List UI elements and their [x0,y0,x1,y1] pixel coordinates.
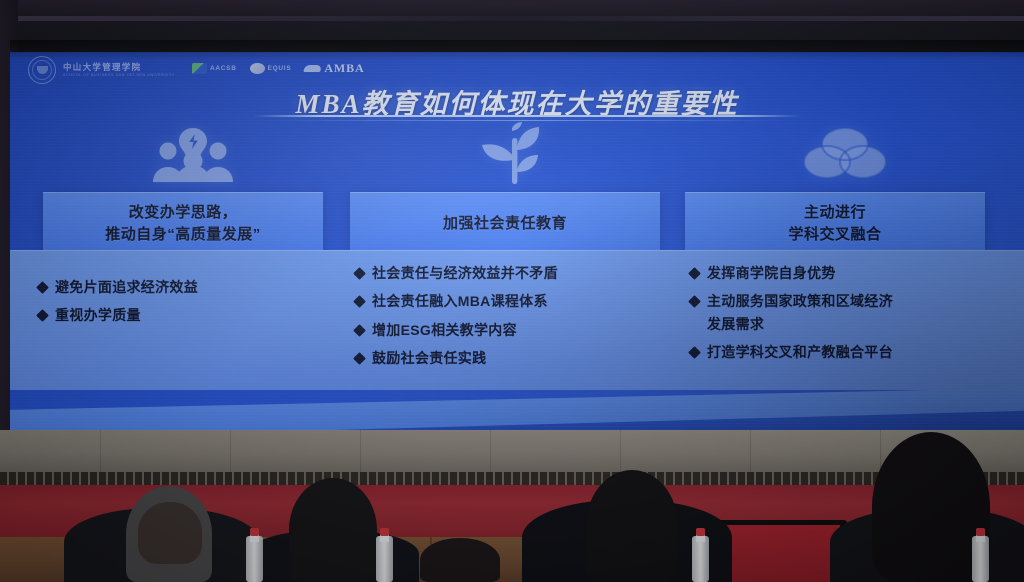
venn-circles-icon [785,120,905,186]
bullet-item: 重视办学质量 [38,306,338,325]
column-icons-row [10,120,1024,186]
school-name-cn: 中山大学管理学院 [63,62,175,73]
title-underline [253,115,801,117]
column-heading-1-line-1: 改变办学思路， [129,202,238,224]
water-bottle [972,522,989,582]
audience-head [78,452,243,582]
diamond-bullet-icon [688,267,701,280]
bullet-text: 打造学科交叉和产教融合平台 [707,343,893,362]
column-heading-1: 改变办学思路， 推动自身“高质量发展” [43,192,323,254]
bullet-column-3: 发挥商学院自身优势 主动服务国家政策和区域经济 发展需求 打造学科交叉和产教融合… [690,264,1010,371]
column-heading-2: 加强社会责任教育 [350,192,660,254]
bullet-column-2: 社会责任与经济效益并不矛盾 社会责任融入MBA课程体系 增加ESG相关教学内容 … [355,264,675,377]
bullet-text: 主动服务国家政策和区域经济 [707,292,893,311]
bullet-text: 避免片面追求经济效益 [55,278,198,297]
diamond-bullet-icon [353,267,366,280]
bullet-column-1: 避免片面追求经济效益 重视办学质量 [38,278,338,335]
bullet-item: 打造学科交叉和产教融合平台 [690,343,1010,362]
sprout-plant-icon [455,120,575,186]
bullet-item: 社会责任与经济效益并不矛盾 [355,264,675,283]
bullet-item: 鼓励社会责任实践 [355,349,675,368]
hall-upper-wall [0,0,1024,58]
audience-head [410,538,510,582]
column-heading-3-line-2: 学科交叉融合 [788,224,881,246]
diamond-bullet-icon [36,281,49,294]
bullet-item: 社会责任融入MBA课程体系 [355,292,675,311]
diamond-bullet-icon [353,295,366,308]
diamond-bullet-icon [353,324,366,337]
audience-head [840,432,1020,582]
school-logo: 中山大学管理学院 SCHOOL OF BUSINESS SUN YAT-SEN … [28,56,175,84]
aacsb-label: AACSB [210,65,237,72]
diamond-bullet-icon [688,346,701,359]
photo-scene: 中山大学管理学院 SCHOOL OF BUSINESS SUN YAT-SEN … [0,0,1024,582]
bullet-text: 增加ESG相关教学内容 [372,321,517,340]
water-bottle [692,522,709,582]
diamond-bullet-icon [36,309,49,322]
amba-label: AMBA [324,61,364,76]
water-bottle [246,522,263,582]
equis-logo-icon: EQUIS [250,63,292,74]
bullet-item: 发挥商学院自身优势 [690,264,1010,283]
water-bottle [376,522,393,582]
bullet-item: 主动服务国家政策和区域经济 [690,292,1010,311]
diamond-bullet-icon [353,352,366,365]
aacsb-logo-icon: AACSB [192,63,237,74]
bullet-text: 发展需求 [707,315,764,334]
bullet-text: 发挥商学院自身优势 [707,264,836,283]
column-heading-3-line-1: 主动进行 [804,202,866,224]
bullet-item: 避免片面追求经济效益 [38,278,338,297]
diamond-bullet-icon [688,295,701,308]
equis-label: EQUIS [268,65,292,72]
bullet-text: 鼓励社会责任实践 [372,349,486,368]
projection-slide: 中山大学管理学院 SCHOOL OF BUSINESS SUN YAT-SEN … [10,52,1024,430]
column-headings-row: 改变办学思路， 推动自身“高质量发展” 加强社会责任教育 主动进行 学科交叉融合 [10,192,1024,254]
accreditation-logos: AACSB EQUIS AMBA [192,61,365,76]
column-heading-3: 主动进行 学科交叉融合 [685,192,985,254]
column-heading-2-line-1: 加强社会责任教育 [443,213,567,235]
bullet-text: 社会责任与经济效益并不矛盾 [372,264,558,283]
audience-head [538,436,713,582]
bullet-item-continuation: 发展需求 [690,315,1010,334]
school-name-en: SCHOOL OF BUSINESS SUN YAT-SEN UNIVERSIT… [63,73,175,78]
bullets-panel: 避免片面追求经济效益 重视办学质量 社会责任与经济效益并不矛盾 社会责任融入MB… [10,250,1024,390]
people-lightbulb-icon [133,120,253,186]
column-heading-1-line-2: 推动自身“高质量发展” [105,224,261,246]
university-seal-icon [28,56,56,84]
bullet-text: 社会责任融入MBA课程体系 [372,292,548,311]
amba-logo-icon: AMBA [304,61,364,76]
bullet-item: 增加ESG相关教学内容 [355,321,675,340]
bullet-text: 重视办学质量 [55,306,141,325]
